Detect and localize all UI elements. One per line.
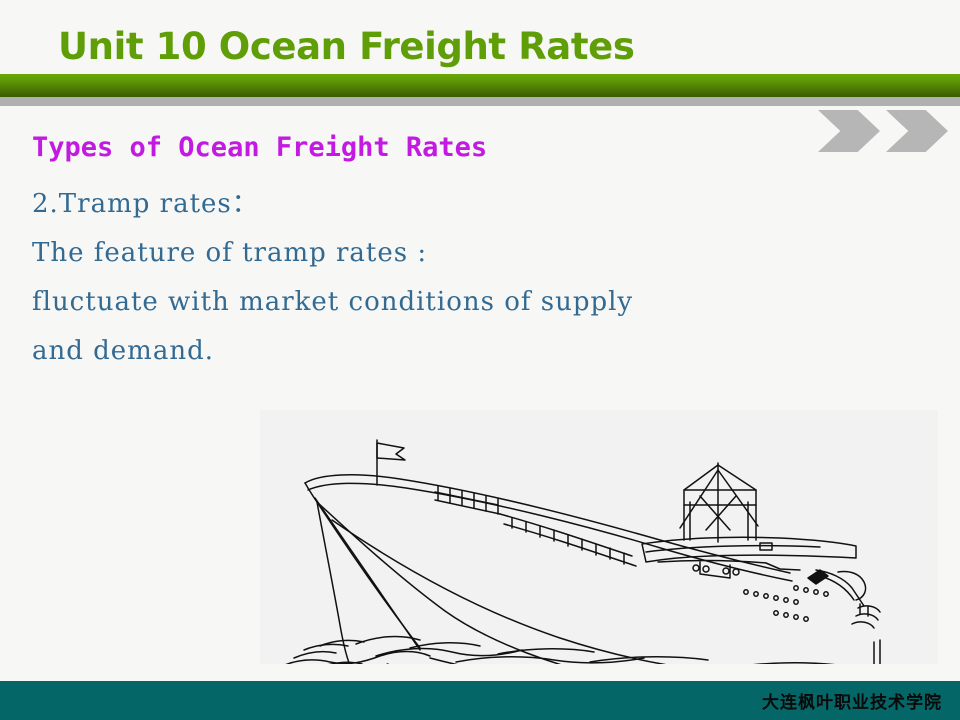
slide-footer: 大连枫叶职业技术学院 xyxy=(0,681,960,720)
page-title: Unit 10 Ocean Freight Rates xyxy=(58,24,634,70)
body-line: and demand. xyxy=(32,327,912,376)
body-line: fluctuate with market conditions of supp… xyxy=(32,278,912,327)
title-green-divider-bar xyxy=(0,74,960,97)
body-line: 2.Tramp rates： xyxy=(32,180,912,229)
ship-illustration-svg xyxy=(260,410,938,664)
footer-organization-name: 大连枫叶职业技术学院 xyxy=(762,688,942,713)
section-heading: Types of Ocean Freight Rates xyxy=(32,128,912,168)
content-block: Types of Ocean Freight Rates 2.Tramp rat… xyxy=(32,128,912,376)
slide-canvas: Unit 10 Ocean Freight Rates Types of Oce… xyxy=(0,0,960,720)
ship-line-drawing-image xyxy=(260,410,938,664)
slide-header: Unit 10 Ocean Freight Rates xyxy=(0,0,960,106)
title-gray-divider-bar xyxy=(0,97,960,106)
body-line: The feature of tramp rates : xyxy=(32,229,912,278)
